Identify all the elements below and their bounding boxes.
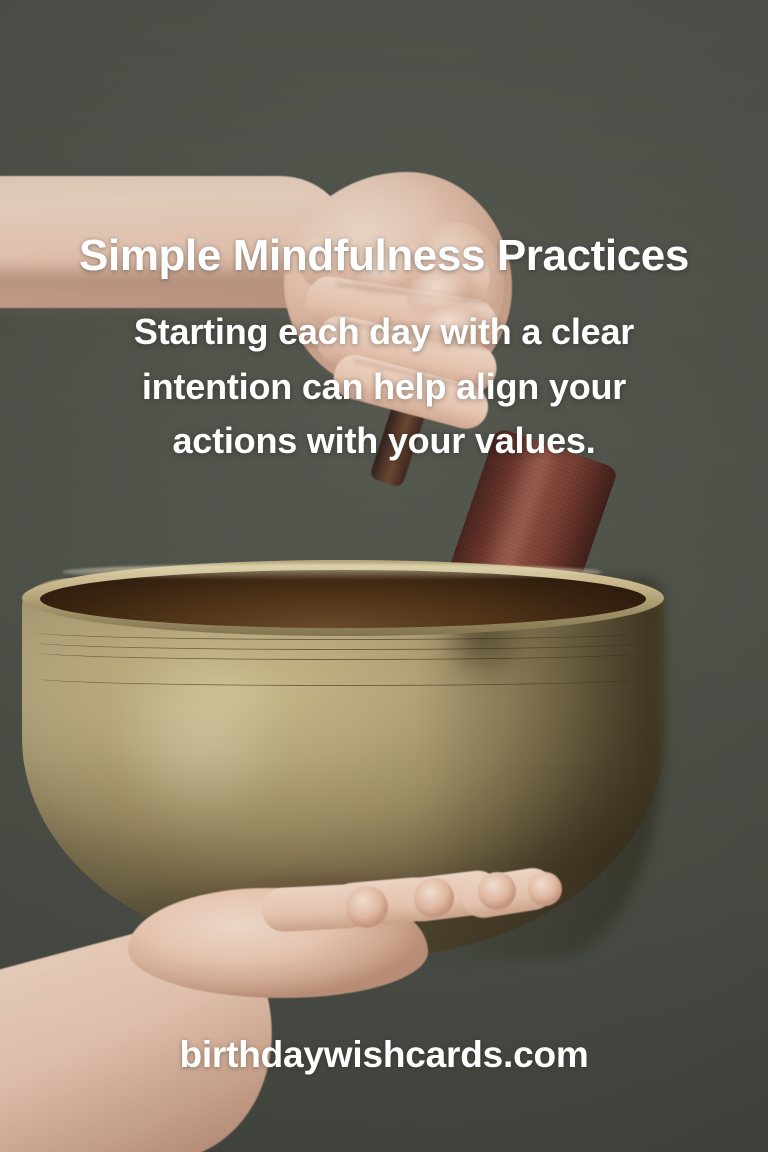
subtitle-text: Starting each day with a clear intention… xyxy=(0,305,768,469)
text-overlay: Simple Mindfulness Practices Starting ea… xyxy=(0,0,768,1152)
website-url: birthdaywishcards.com xyxy=(0,1034,768,1076)
page-title: Simple Mindfulness Practices xyxy=(0,232,768,280)
pinterest-quote-card: Simple Mindfulness Practices Starting ea… xyxy=(0,0,768,1152)
